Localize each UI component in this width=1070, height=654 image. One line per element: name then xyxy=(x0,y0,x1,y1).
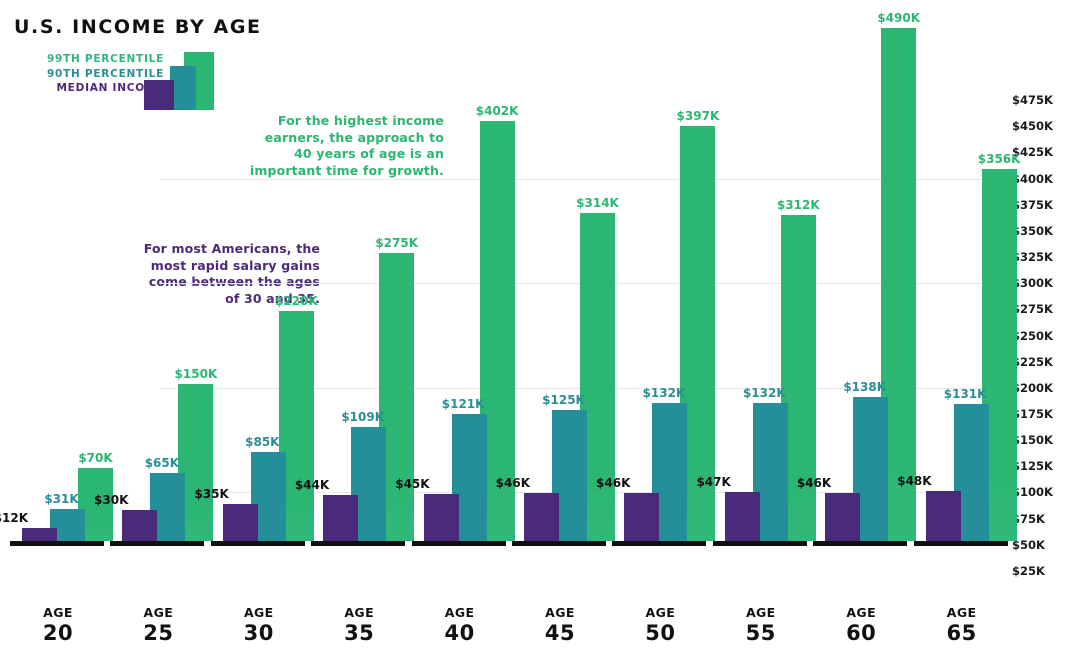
bar-median-35[interactable] xyxy=(323,495,358,541)
value-label-p90-35: $109K xyxy=(341,410,384,424)
value-label-median-35: $44K xyxy=(295,478,329,492)
y-axis-tick-350: $350K xyxy=(1012,224,1070,238)
bar-group-35[interactable]: $275K$109K$44K xyxy=(309,0,409,546)
group-baseline-60 xyxy=(813,541,907,546)
x-axis-label-60: AGE60 xyxy=(811,605,911,645)
x-axis-label-number: 60 xyxy=(811,621,911,645)
value-label-median-30: $35K xyxy=(194,487,228,501)
y-axis-tick-125: $125K xyxy=(1012,459,1070,473)
bar-median-55[interactable] xyxy=(725,492,760,541)
group-baseline-50 xyxy=(612,541,706,546)
x-axis-label-number: 20 xyxy=(8,621,108,645)
group-baseline-35 xyxy=(311,541,405,546)
x-axis-label-20: AGE20 xyxy=(8,605,108,645)
x-axis-label-word: AGE xyxy=(610,605,710,620)
y-axis-tick-300: $300K xyxy=(1012,276,1070,290)
y-axis-tick-50: $50K xyxy=(1012,538,1070,552)
value-label-median-25: $30K xyxy=(94,493,128,507)
x-axis-label-number: 40 xyxy=(410,621,510,645)
y-axis-tick-375: $375K xyxy=(1012,198,1070,212)
value-label-p90-50: $132K xyxy=(643,386,686,400)
bar-median-30[interactable] xyxy=(223,504,258,541)
value-label-p90-25: $65K xyxy=(145,456,179,470)
value-label-p90-45: $125K xyxy=(542,393,585,407)
x-axis-label-word: AGE xyxy=(8,605,108,620)
value-label-p99-45: $314K xyxy=(576,196,619,210)
x-axis-label-35: AGE35 xyxy=(309,605,409,645)
y-axis-labels: $475K$450K$425K$400K$375K$350K$325K$300K… xyxy=(1012,0,1070,600)
bar-group-45[interactable]: $314K$125K$46K xyxy=(510,0,610,546)
bar-median-25[interactable] xyxy=(122,510,157,541)
x-axis-label-50: AGE50 xyxy=(610,605,710,645)
y-axis-tick-100: $100K xyxy=(1012,485,1070,499)
x-axis-label-55: AGE55 xyxy=(711,605,811,645)
x-axis-label-word: AGE xyxy=(209,605,309,620)
value-label-median-20: $12K xyxy=(0,511,28,525)
value-label-p99-65: $356K xyxy=(978,152,1021,166)
value-label-median-40: $45K xyxy=(395,477,429,491)
y-axis-tick-325: $325K xyxy=(1012,250,1070,264)
value-label-p99-55: $312K xyxy=(777,198,820,212)
x-axis-label-25: AGE25 xyxy=(108,605,208,645)
value-label-median-50: $46K xyxy=(596,476,630,490)
bar-group-55[interactable]: $312K$132K$47K xyxy=(711,0,811,546)
x-axis-label-word: AGE xyxy=(510,605,610,620)
value-label-median-60: $46K xyxy=(797,476,831,490)
value-label-median-55: $47K xyxy=(696,475,730,489)
x-axis-label-number: 65 xyxy=(912,621,1012,645)
x-axis-label-number: 45 xyxy=(510,621,610,645)
value-label-median-45: $46K xyxy=(496,476,530,490)
x-axis-label-number: 25 xyxy=(108,621,208,645)
y-axis-tick-250: $250K xyxy=(1012,329,1070,343)
x-axis-label-word: AGE xyxy=(410,605,510,620)
value-label-p99-40: $402K xyxy=(476,104,519,118)
x-axis-label-word: AGE xyxy=(711,605,811,620)
x-axis-label-number: 50 xyxy=(610,621,710,645)
bar-median-60[interactable] xyxy=(825,493,860,541)
y-axis-tick-25: $25K xyxy=(1012,564,1070,578)
x-axis-label-word: AGE xyxy=(912,605,1012,620)
bar-group-50[interactable]: $397K$132K$46K xyxy=(610,0,710,546)
plot-area: $70K$31K$12K$150K$65K$30K$220K$85K$35K$2… xyxy=(0,0,1005,598)
x-axis-label-number: 55 xyxy=(711,621,811,645)
x-axis-label-65: AGE65 xyxy=(912,605,1012,645)
x-axis-label-40: AGE40 xyxy=(410,605,510,645)
bar-group-30[interactable]: $220K$85K$35K xyxy=(209,0,309,546)
bar-group-25[interactable]: $150K$65K$30K xyxy=(108,0,208,546)
bar-median-65[interactable] xyxy=(926,491,961,541)
value-label-p90-40: $121K xyxy=(442,397,485,411)
group-baseline-40 xyxy=(412,541,506,546)
value-label-p90-30: $85K xyxy=(245,435,279,449)
x-axis-label-word: AGE xyxy=(108,605,208,620)
value-label-p99-50: $397K xyxy=(677,109,720,123)
y-axis-tick-400: $400K xyxy=(1012,172,1070,186)
bar-group-60[interactable]: $490K$138K$46K xyxy=(811,0,911,546)
y-axis-tick-225: $225K xyxy=(1012,355,1070,369)
group-baseline-45 xyxy=(512,541,606,546)
x-axis-label-number: 35 xyxy=(309,621,409,645)
y-axis-tick-475: $475K xyxy=(1012,93,1070,107)
bar-group-65[interactable]: $356K$131K$48K xyxy=(912,0,1012,546)
x-axis-label-number: 30 xyxy=(209,621,309,645)
x-axis-label-word: AGE xyxy=(811,605,911,620)
y-axis-tick-200: $200K xyxy=(1012,381,1070,395)
value-label-p90-65: $131K xyxy=(944,387,987,401)
value-label-p99-20: $70K xyxy=(78,451,112,465)
group-baseline-25 xyxy=(110,541,204,546)
value-label-p99-25: $150K xyxy=(175,367,218,381)
group-baseline-55 xyxy=(713,541,807,546)
group-baseline-20 xyxy=(10,541,104,546)
y-axis-tick-150: $150K xyxy=(1012,433,1070,447)
bar-group-40[interactable]: $402K$121K$45K xyxy=(410,0,510,546)
chart-canvas: U.S. INCOME BY AGE 99TH PERCENTILE 90TH … xyxy=(0,0,1070,654)
x-axis-label-word: AGE xyxy=(309,605,409,620)
value-label-p90-55: $132K xyxy=(743,386,786,400)
y-axis-tick-275: $275K xyxy=(1012,302,1070,316)
group-baseline-30 xyxy=(211,541,305,546)
value-label-p99-35: $275K xyxy=(375,236,418,250)
bar-median-40[interactable] xyxy=(424,494,459,541)
value-label-p99-60: $490K xyxy=(877,11,920,25)
value-label-median-65: $48K xyxy=(897,474,931,488)
value-label-p90-60: $138K xyxy=(843,380,886,394)
x-axis-label-30: AGE30 xyxy=(209,605,309,645)
bar-group-20[interactable]: $70K$31K$12K xyxy=(8,0,108,546)
y-axis-tick-75: $75K xyxy=(1012,512,1070,526)
y-axis-tick-175: $175K xyxy=(1012,407,1070,421)
group-baseline-65 xyxy=(914,541,1008,546)
y-axis-tick-450: $450K xyxy=(1012,119,1070,133)
bar-median-45[interactable] xyxy=(524,493,559,541)
bar-median-20[interactable] xyxy=(22,528,57,541)
bar-median-50[interactable] xyxy=(624,493,659,541)
x-axis-label-45: AGE45 xyxy=(510,605,610,645)
value-label-p99-30: $220K xyxy=(275,294,318,308)
value-label-p90-20: $31K xyxy=(44,492,78,506)
